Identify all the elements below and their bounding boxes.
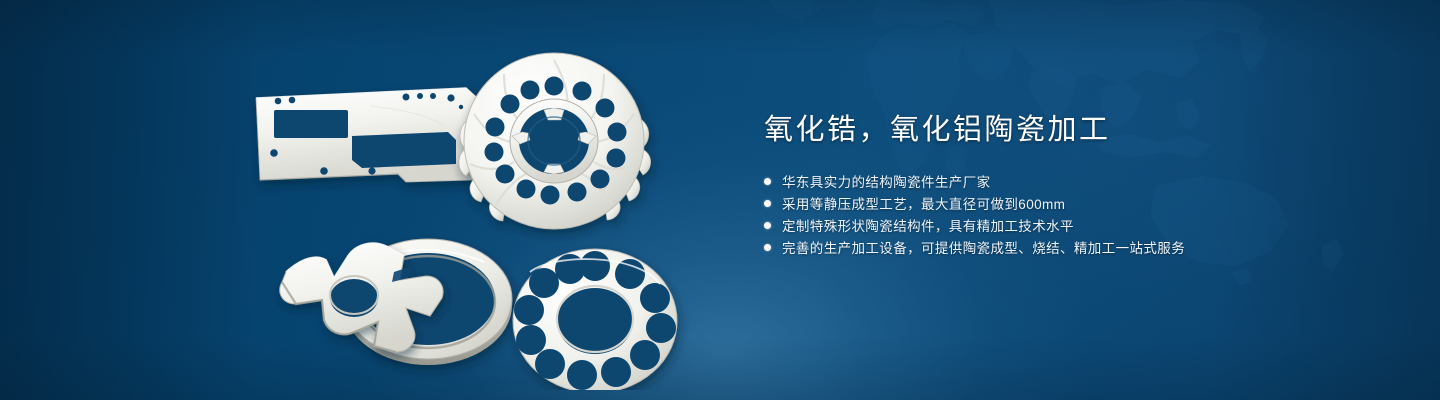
list-item-label: 采用等静压成型工艺，最大直径可做到600mm bbox=[782, 193, 1065, 213]
page-title: 氧化锆，氧化铝陶瓷加工 bbox=[764, 112, 1324, 148]
list-item: 采用等静压成型工艺，最大直径可做到600mm bbox=[764, 192, 1324, 214]
product-photo-group bbox=[230, 40, 730, 390]
list-item-label: 定制特殊形状陶瓷结构件，具有精加工技术水平 bbox=[782, 215, 1074, 235]
bullet-dot-icon bbox=[764, 222, 771, 229]
bullet-dot-icon bbox=[764, 200, 771, 207]
feature-list: 华东具实力的结构陶瓷件生产厂家 采用等静压成型工艺，最大直径可做到600mm 定… bbox=[764, 170, 1324, 258]
ceramic-plate-with-cutouts bbox=[256, 88, 492, 182]
list-item-label: 华东具实力的结构陶瓷件生产厂家 bbox=[782, 171, 991, 191]
list-item: 完善的生产加工设备，可提供陶瓷成型、烧结、精加工一站式服务 bbox=[764, 236, 1324, 258]
ceramic-perforated-disc bbox=[513, 249, 677, 390]
list-item: 华东具实力的结构陶瓷件生产厂家 bbox=[764, 170, 1324, 192]
hero-banner: 氧化锆，氧化铝陶瓷加工 华东具实力的结构陶瓷件生产厂家 采用等静压成型工艺，最大… bbox=[0, 0, 1440, 400]
bullet-dot-icon bbox=[764, 178, 771, 185]
bullet-dot-icon bbox=[764, 244, 771, 251]
list-item-label: 完善的生产加工设备，可提供陶瓷成型、烧结、精加工一站式服务 bbox=[782, 237, 1185, 257]
ceramic-impeller-disc bbox=[459, 53, 651, 229]
banner-copy: 氧化锆，氧化铝陶瓷加工 华东具实力的结构陶瓷件生产厂家 采用等静压成型工艺，最大… bbox=[764, 112, 1324, 258]
list-item: 定制特殊形状陶瓷结构件，具有精加工技术水平 bbox=[764, 214, 1324, 236]
